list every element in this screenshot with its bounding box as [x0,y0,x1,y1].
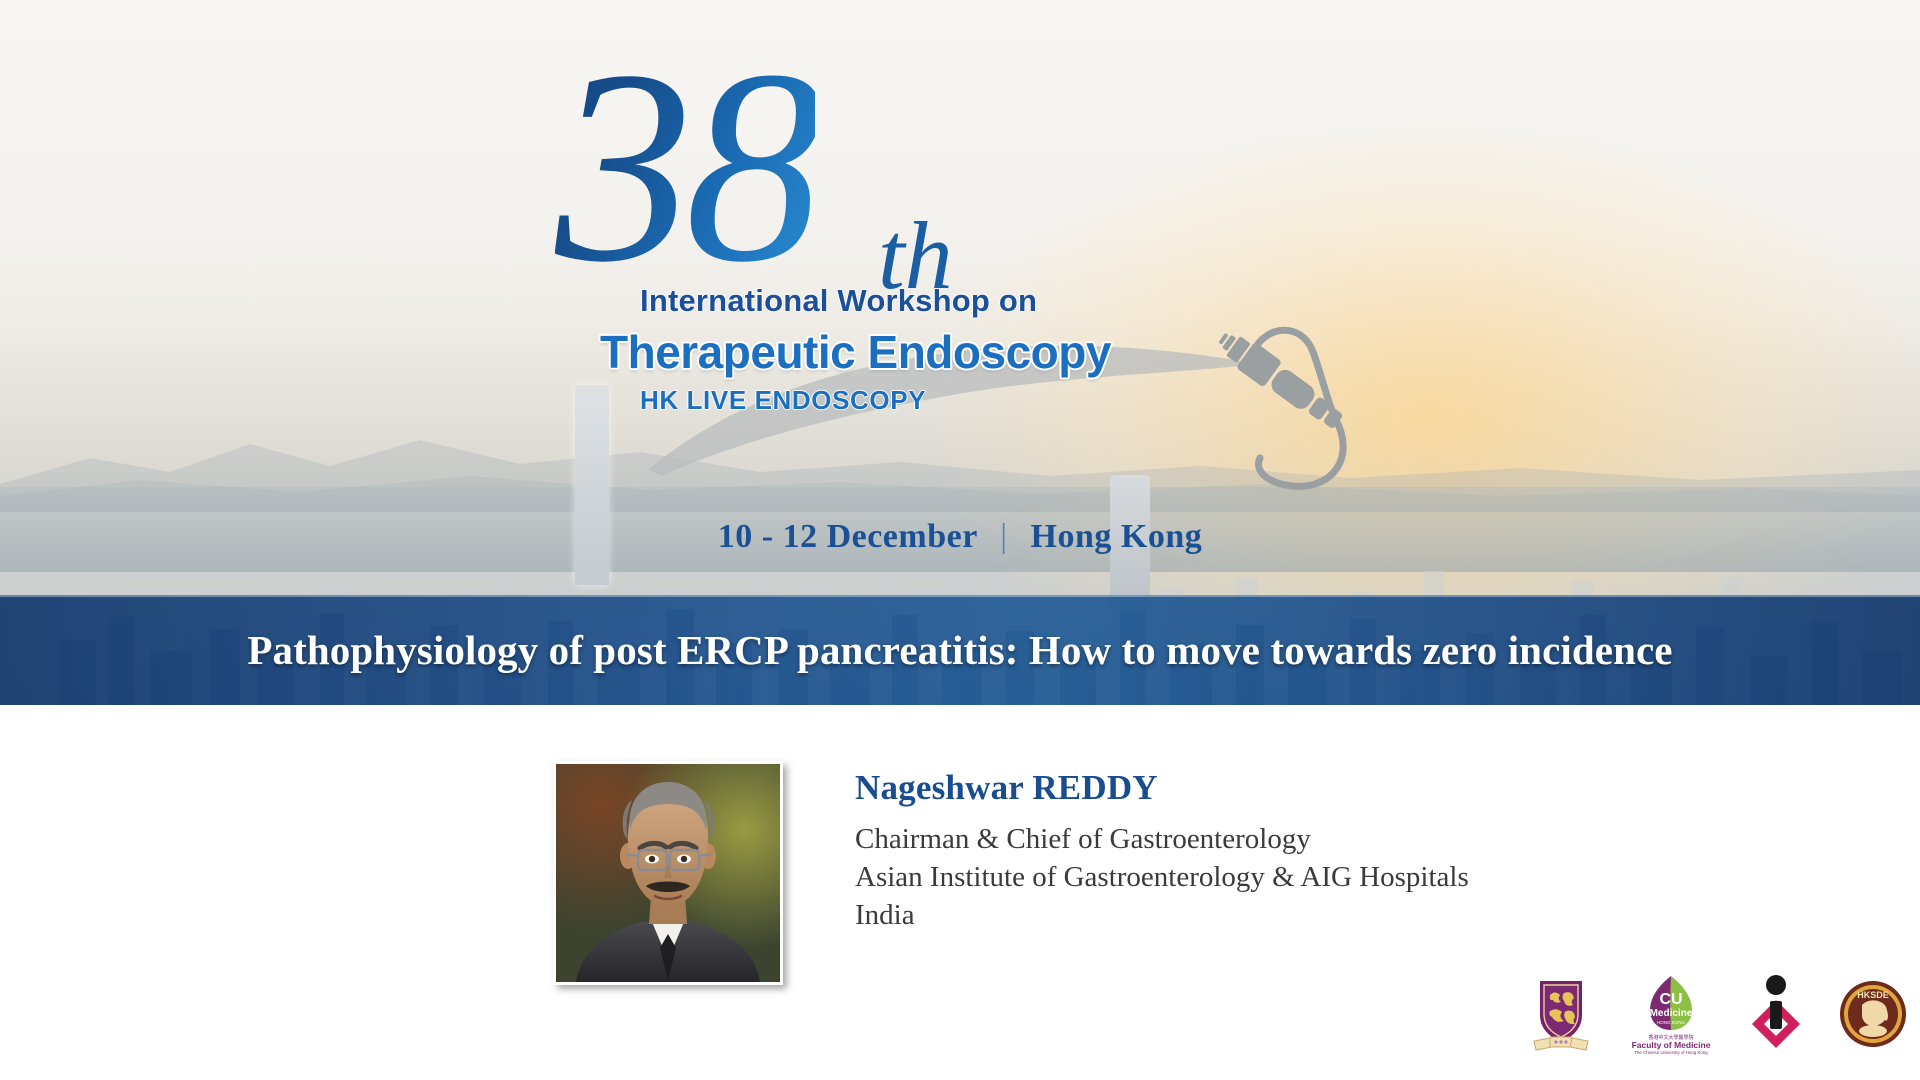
svg-text:The Chinese University of Hong: The Chinese University of Hong Kong [1634,1050,1708,1055]
svg-text:Faculty of Medicine: Faculty of Medicine [1632,1040,1711,1050]
svg-text:Medicine: Medicine [1650,1008,1693,1019]
event-location: Hong Kong [1031,518,1203,555]
event-date-location: 10 - 12 December | Hong Kong [0,518,1920,556]
endoscope-icon [1180,300,1390,500]
hksde-badge-logo: HKSDE [1838,979,1908,1054]
edition-number: 38 [555,28,815,304]
partner-logos: CU Medicine HONG KONG 香港中文大學醫學院 Faculty … [1528,962,1888,1070]
date-location-separator: | [1000,518,1007,555]
hero-banner: 38 th International Workshop on Therapeu… [0,0,1920,705]
affiliation-line-3: India [855,896,1469,934]
speaker-photo [553,761,783,985]
hksde-label: HKSDE [1857,990,1889,1000]
cu-medicine-logo: CU Medicine HONG KONG 香港中文大學醫學院 Faculty … [1628,972,1714,1061]
conference-logo-lockup: 38 th International Workshop on Therapeu… [0,0,1920,600]
svg-text:CU: CU [1659,991,1682,1008]
event-dates: 10 - 12 December [718,518,977,555]
presentation-title-banner: Pathophysiology of post ERCP pancreatiti… [0,595,1920,705]
cuhk-crest-logo [1528,975,1594,1058]
speaker-affiliation: Chairman & Chief of Gastroenterology Asi… [855,820,1469,934]
portrait-illustration [556,764,780,982]
affiliation-line-2: Asian Institute of Gastroenterology & AI… [855,858,1469,896]
speaker-name: Nageshwar REDDY [855,768,1158,808]
page-title: Pathophysiology of post ERCP pancreatiti… [0,595,1920,705]
diamond-figure-logo [1748,974,1804,1059]
svg-text:HONG KONG: HONG KONG [1657,1020,1686,1025]
affiliation-line-1: Chairman & Chief of Gastroenterology [855,820,1469,858]
